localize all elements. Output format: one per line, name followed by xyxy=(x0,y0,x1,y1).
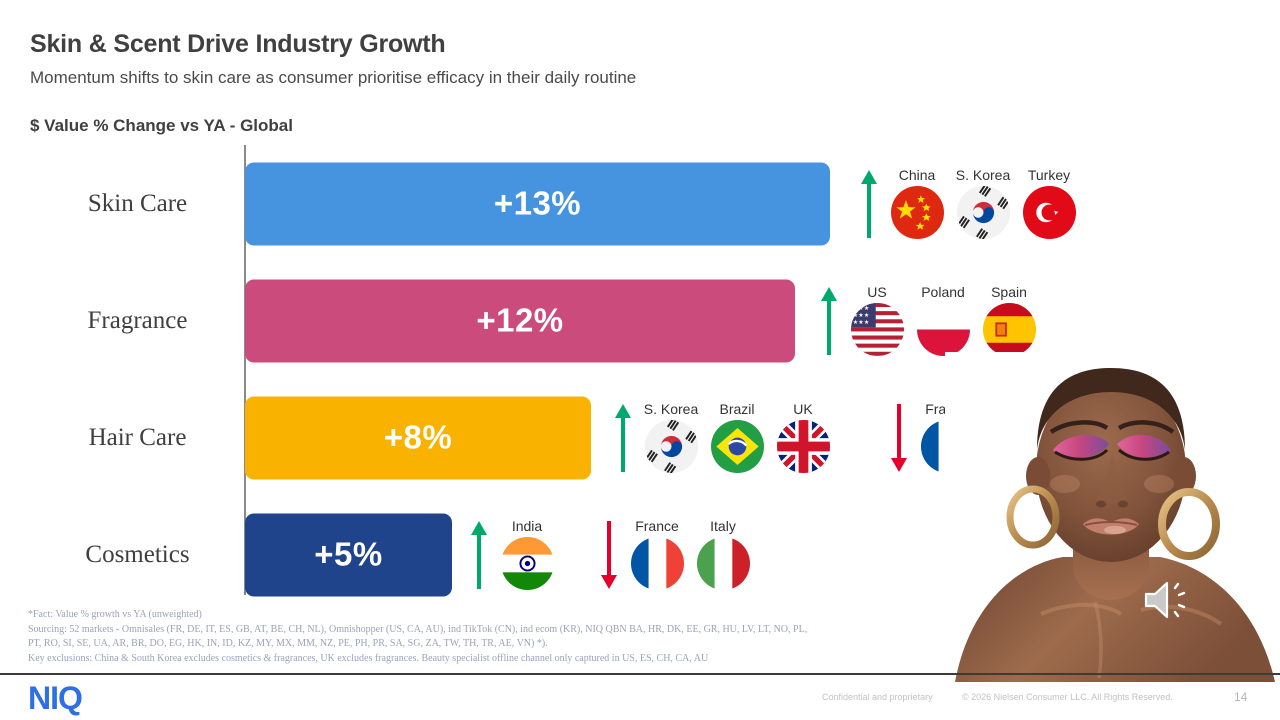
flag-label: Brazil xyxy=(719,402,754,417)
footnote-line-4: Key exclusions: China & South Korea excl… xyxy=(28,652,938,667)
arrow-up-icon xyxy=(858,168,880,240)
bar-value-skin-care: +13% xyxy=(494,185,581,223)
flag-item-india: India xyxy=(498,519,556,590)
flag-item-us: US ★★★★★★★★★ xyxy=(848,285,906,356)
arrow-up-icon xyxy=(612,402,634,474)
flag-item-france: France xyxy=(628,519,686,590)
flag-poland-icon xyxy=(917,303,970,356)
flag-label: France xyxy=(635,519,679,534)
flag-item-s-korea: S. Korea xyxy=(642,402,700,473)
flag-india-icon xyxy=(501,537,554,590)
flag-brazil-icon xyxy=(711,420,764,473)
category-label-skin-care: Skin Care xyxy=(40,190,235,218)
flag-france-icon xyxy=(631,537,684,590)
flag-item-poland: Poland xyxy=(914,285,972,356)
niq-logo: NIQ xyxy=(28,680,82,717)
page-subtitle: Momentum shifts to skin care as consumer… xyxy=(30,68,636,88)
footnote-line-3: PT, RO, SI, SE, UA, AR, BR, DO, EG, HK, … xyxy=(28,637,938,652)
category-label-cosmetics: Cosmetics xyxy=(40,541,235,569)
flag-item-spain: Spain xyxy=(980,285,1038,356)
arrow-down-icon xyxy=(598,519,620,591)
category-label-fragrance: Fragrance xyxy=(40,307,235,335)
flag-label: US xyxy=(867,285,886,300)
footnotes: *Fact: Value % growth vs YA (unweighted)… xyxy=(28,608,938,666)
flag-label: S. Korea xyxy=(956,168,1010,183)
page-number: 14 xyxy=(1234,690,1247,704)
chart-row-skin-care: Skin Care +13% China xyxy=(0,145,1280,262)
flag-label: Italy xyxy=(710,519,736,534)
footer-copyright-text: © 2026 Nielsen Consumer LLC. All Rights … xyxy=(962,692,1173,702)
flag-item-turkey: Turkey xyxy=(1020,168,1078,239)
flag-label: Turkey xyxy=(1028,168,1070,183)
flag-united-kingdom-icon xyxy=(777,420,830,473)
flag-item-italy: Italy xyxy=(694,519,752,590)
bar-skin-care: +13% xyxy=(245,162,830,245)
flag-south-korea-icon xyxy=(645,420,698,473)
flag-group-hair-care-up: S. Korea Braz xyxy=(612,393,832,483)
flag-united-states-icon: ★★★★★★★★★ xyxy=(851,303,904,356)
flag-italy-icon xyxy=(697,537,750,590)
svg-text:★★★: ★★★ xyxy=(852,305,869,312)
flag-label: Poland xyxy=(921,285,965,300)
speaker-icon[interactable] xyxy=(1142,578,1194,622)
footer-divider xyxy=(0,673,1280,675)
page-title: Skin & Scent Drive Industry Growth xyxy=(30,30,446,59)
flag-item-s-korea: S. Korea xyxy=(954,168,1012,239)
flag-china-icon xyxy=(891,186,944,239)
flag-item-uk: UK xyxy=(774,402,832,473)
arrow-down-icon xyxy=(888,402,910,474)
footnote-line-2: Sourcing: 52 markets - Omnisales (FR, DE… xyxy=(28,623,938,638)
flag-label: UK xyxy=(793,402,812,417)
flag-south-korea-icon xyxy=(957,186,1010,239)
bar-hair-care: +8% xyxy=(245,396,591,479)
arrow-up-icon xyxy=(818,285,840,357)
flag-spain-icon xyxy=(983,303,1036,356)
flag-item-china: China xyxy=(888,168,946,239)
bar-fragrance: +12% xyxy=(245,279,795,362)
bar-cosmetics: +5% xyxy=(245,513,452,596)
arrow-up-icon xyxy=(468,519,490,591)
flag-item-brazil: Brazil xyxy=(708,402,766,473)
flag-label: S. Korea xyxy=(644,402,698,417)
flag-group-skin-care-up: China S. Korea xyxy=(858,159,1078,249)
flag-turkey-icon xyxy=(1023,186,1076,239)
bar-value-hair-care: +8% xyxy=(384,419,452,457)
flag-label: Spain xyxy=(991,285,1027,300)
footer-confidential-text: Confidential and proprietary xyxy=(822,692,933,702)
bar-value-cosmetics: +5% xyxy=(314,536,382,574)
footnote-line-1: *Fact: Value % growth vs YA (unweighted) xyxy=(28,608,938,623)
flag-label: India xyxy=(512,519,542,534)
svg-text:★★★: ★★★ xyxy=(852,312,869,319)
bar-value-fragrance: +12% xyxy=(476,302,563,340)
chart-heading: $ Value % Change vs YA - Global xyxy=(30,116,293,136)
flag-group-cosmetics-up: India xyxy=(468,510,556,600)
beauty-model-photo xyxy=(945,352,1280,682)
flag-label: China xyxy=(899,168,936,183)
svg-text:★★★: ★★★ xyxy=(852,319,869,326)
category-label-hair-care: Hair Care xyxy=(40,424,235,452)
flag-group-cosmetics-down: France Italy xyxy=(598,510,752,600)
